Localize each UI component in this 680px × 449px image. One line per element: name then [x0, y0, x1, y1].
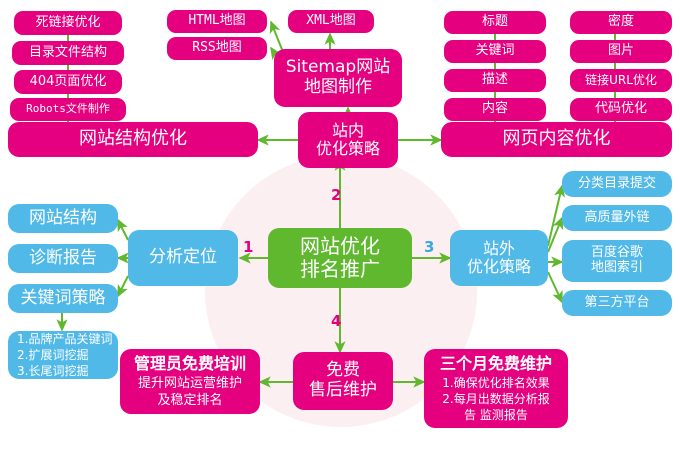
node-label: 描述 [482, 73, 508, 88]
maintenance-title: 三个月免费维护 [440, 353, 552, 375]
hub-website-structure-optimization[interactable]: 网站结构优化 [8, 122, 258, 157]
step-number-1: 1 [243, 238, 253, 256]
node-images[interactable]: 图片 [570, 40, 672, 63]
node-high-quality-backlinks[interactable]: 高质量外链 [562, 205, 672, 231]
maintenance-line: 告 监测报告 [464, 407, 528, 423]
node-label-line2: 优化策略 [467, 258, 531, 276]
hub-page-content-optimization[interactable]: 网页内容优化 [441, 122, 672, 157]
step-number-4: 4 [331, 312, 341, 330]
node-keyword-strategy[interactable]: 关键词策略 [8, 284, 118, 313]
node-link-url-optimization[interactable]: 链接URL优化 [570, 69, 672, 92]
hub-offsite-strategy[interactable]: 站外 优化策略 [450, 230, 548, 286]
node-label-line1: 站外 [483, 240, 515, 258]
node-baidu-google-map-index[interactable]: 百度谷歌 地图索引 [562, 240, 672, 282]
node-keyword-density[interactable]: 密度 [570, 11, 672, 34]
node-rss-sitemap[interactable]: RSS地图 [167, 37, 267, 60]
node-label: 图片 [608, 44, 634, 59]
node-label-line2: 地图索引 [591, 261, 643, 276]
hub-onsite-strategy[interactable]: 站内 优化策略 [298, 112, 398, 168]
node-label: 分类目录提交 [578, 177, 656, 192]
maintenance-line: 1.确保优化排名效果 [442, 375, 549, 391]
node-label: 代码优化 [595, 102, 647, 117]
node-label: 网页内容优化 [503, 129, 611, 150]
node-diagnostic-report[interactable]: 诊断报告 [8, 244, 118, 273]
node-label: 死链接优化 [35, 16, 100, 31]
node-code-optimization[interactable]: 代码优化 [570, 98, 672, 121]
training-line: 及稳定排名 [157, 392, 222, 410]
keyword-list-item: 2.扩展词挖掘 [17, 347, 88, 363]
node-label-line1: 网站优化 [300, 235, 380, 258]
node-label: HTML地图 [188, 14, 245, 29]
node-label: Robots文件制作 [26, 103, 110, 116]
node-label-line1: Sitemap网站 [286, 58, 390, 78]
node-description-tag[interactable]: 描述 [444, 69, 546, 92]
node-label: 第三方平台 [584, 296, 649, 311]
node-label-line2: 地图制作 [304, 78, 372, 98]
node-label: 目录文件结构 [29, 46, 107, 61]
hub-sitemap-creation[interactable]: Sitemap网站 地图制作 [274, 49, 402, 107]
node-label-line2: 优化策略 [316, 140, 380, 158]
training-lines: 管理员免费培训 提升网站运营维护 及稳定排名 [123, 353, 257, 410]
node-third-party-platform[interactable]: 第三方平台 [562, 290, 672, 316]
node-keyword-list[interactable]: 1.品牌产品关键词 2.扩展词挖掘 3.长尾词挖掘 [8, 331, 118, 379]
node-label-line1: 免费 [326, 361, 360, 381]
node-keywords-tag[interactable]: 关键词 [444, 40, 546, 63]
keyword-list-lines: 1.品牌产品关键词 2.扩展词挖掘 3.长尾词挖掘 [11, 331, 115, 380]
node-label: 关键词 [475, 44, 514, 59]
node-website-structure[interactable]: 网站结构 [8, 204, 118, 233]
step-number-3: 3 [424, 238, 434, 256]
node-404-page-optimization[interactable]: 404页面优化 [14, 70, 122, 94]
node-robots-file[interactable]: Robots文件制作 [10, 98, 126, 121]
node-label-line2: 售后维护 [309, 381, 377, 401]
node-html-sitemap[interactable]: HTML地图 [167, 10, 267, 33]
node-directory-file-structure[interactable]: 目录文件结构 [12, 41, 124, 65]
keyword-list-item: 3.长尾词挖掘 [17, 363, 88, 379]
hub-analysis-positioning[interactable]: 分析定位 [128, 230, 238, 286]
node-xml-sitemap[interactable]: XML地图 [288, 10, 374, 33]
diagram-canvas: 死链接优化 目录文件结构 404页面优化 Robots文件制作 网站结构优化 H… [0, 0, 680, 449]
hub-free-after-sales[interactable]: 免费 售后维护 [293, 352, 393, 410]
node-label: 内容 [482, 102, 508, 117]
node-dead-link-optimization[interactable]: 死链接优化 [14, 11, 122, 35]
node-label: 网站结构优化 [79, 129, 187, 150]
node-label: 标题 [482, 15, 508, 30]
node-label: 404页面优化 [30, 75, 107, 90]
training-line: 提升网站运营维护 [138, 375, 242, 393]
step-number-2: 2 [331, 186, 341, 204]
hub-center-seo-ranking[interactable]: 网站优化 排名推广 [268, 228, 412, 288]
node-label: 分析定位 [149, 248, 217, 268]
node-label: 密度 [608, 15, 634, 30]
node-directory-submission[interactable]: 分类目录提交 [562, 171, 672, 197]
node-admin-free-training[interactable]: 管理员免费培训 提升网站运营维护 及稳定排名 [120, 349, 260, 414]
node-three-month-maintenance[interactable]: 三个月免费维护 1.确保优化排名效果 2.每月出数据分析报 告 监测报告 [424, 349, 568, 428]
node-label-line1: 百度谷歌 [591, 246, 643, 261]
node-label: XML地图 [306, 14, 355, 29]
maintenance-line: 2.每月出数据分析报 [442, 391, 549, 407]
node-label-line2: 排名推广 [300, 258, 380, 281]
node-label: RSS地图 [192, 41, 241, 56]
node-label-line1: 站内 [332, 122, 364, 140]
keyword-list-item: 1.品牌产品关键词 [17, 331, 112, 347]
node-label: 网站结构 [29, 209, 97, 229]
node-label: 诊断报告 [29, 249, 97, 269]
node-title-tag[interactable]: 标题 [444, 11, 546, 34]
node-content-tag[interactable]: 内容 [444, 98, 546, 121]
node-label: 链接URL优化 [585, 74, 657, 88]
node-label: 关键词策略 [21, 289, 106, 309]
node-label: 高质量外链 [584, 211, 649, 226]
maintenance-lines: 三个月免费维护 1.确保优化排名效果 2.每月出数据分析报 告 监测报告 [427, 353, 565, 423]
training-title: 管理员免费培训 [134, 353, 246, 375]
